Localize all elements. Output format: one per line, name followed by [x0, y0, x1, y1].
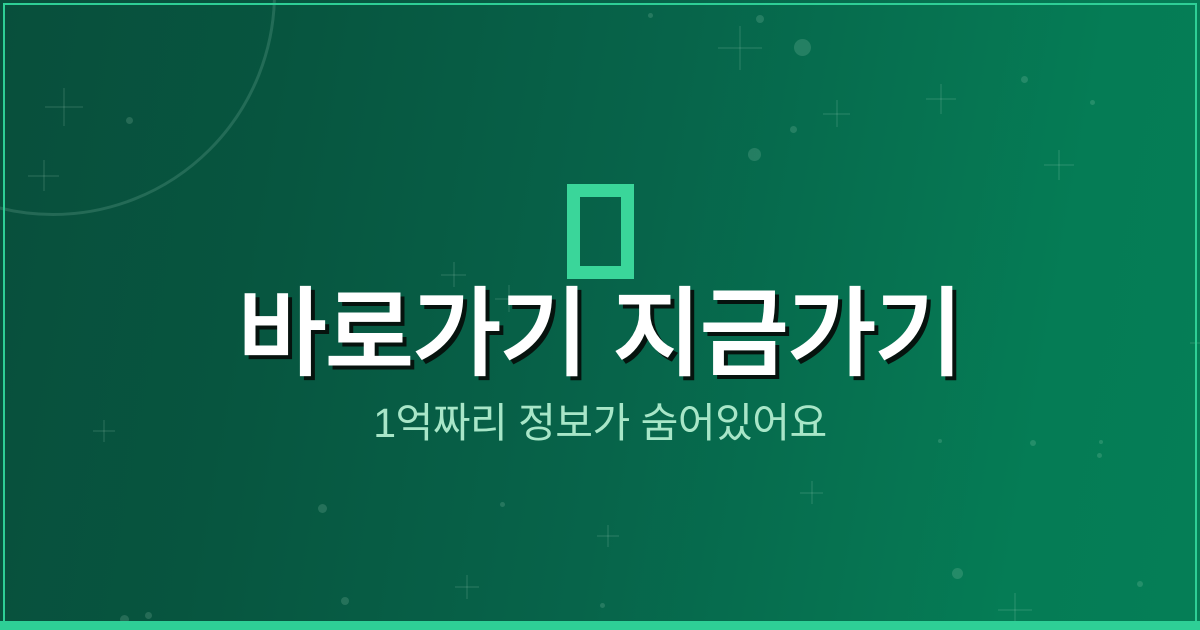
page-title: 바로가기 지금가기 [238, 285, 962, 385]
hero-emoji-icon [567, 181, 634, 281]
hero-content: 바로가기 지금가기 1억짜리 정보가 숨어있어요 [0, 0, 1200, 630]
page-subtitle: 1억짜리 정보가 숨어있어요 [373, 399, 827, 448]
missing-glyph-tofu-box-icon [567, 184, 634, 279]
promo-banner: 바로가기 지금가기 1억짜리 정보가 숨어있어요 [0, 0, 1200, 630]
